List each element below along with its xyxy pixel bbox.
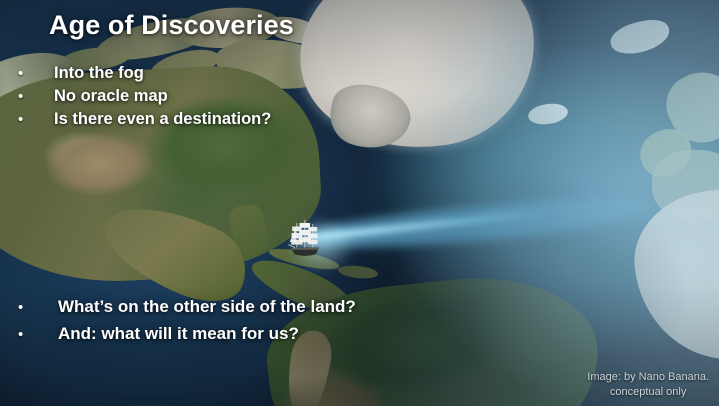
- landmass-iceland: [527, 101, 569, 126]
- list-item: • Is there even a destination?: [18, 110, 271, 133]
- list-item: • What’s on the other side of the land?: [18, 297, 356, 324]
- list-item-label: Is there even a destination?: [54, 110, 271, 129]
- list-item-label: No oracle map: [54, 87, 168, 106]
- bullet-dot-icon: •: [18, 327, 58, 342]
- list-item: • Into the fog: [18, 64, 271, 87]
- list-item-label: And: what will it mean for us?: [58, 324, 299, 344]
- bullet-dot-icon: •: [18, 89, 54, 104]
- bullet-dot-icon: •: [18, 300, 58, 315]
- landmass-svalbard: [607, 15, 672, 59]
- list-item: • And: what will it mean for us?: [18, 324, 356, 351]
- bullet-dot-icon: •: [18, 112, 54, 127]
- page-title: Age of Discoveries: [49, 10, 294, 41]
- list-item-label: What’s on the other side of the land?: [58, 297, 356, 317]
- image-credit-line-1: Image: by Nano Banana.: [587, 370, 709, 385]
- bullet-dot-icon: •: [18, 66, 54, 81]
- bullet-list-top: • Into the fog • No oracle map • Is ther…: [18, 64, 271, 133]
- image-credit: Image: by Nano Banana. conceptual only: [587, 370, 709, 400]
- list-item-label: Into the fog: [54, 64, 144, 83]
- sailing-ship-icon: [288, 218, 322, 260]
- presentation-slide: Age of Discoveries • Into the fog • No o…: [0, 0, 719, 406]
- landmass-hispaniola: [337, 264, 378, 280]
- list-item: • No oracle map: [18, 87, 271, 110]
- image-credit-line-2: conceptual only: [587, 385, 709, 400]
- landmass-africa: [628, 182, 719, 369]
- landmass-greenland: [288, 0, 547, 163]
- bullet-list-bottom: • What’s on the other side of the land? …: [18, 297, 356, 351]
